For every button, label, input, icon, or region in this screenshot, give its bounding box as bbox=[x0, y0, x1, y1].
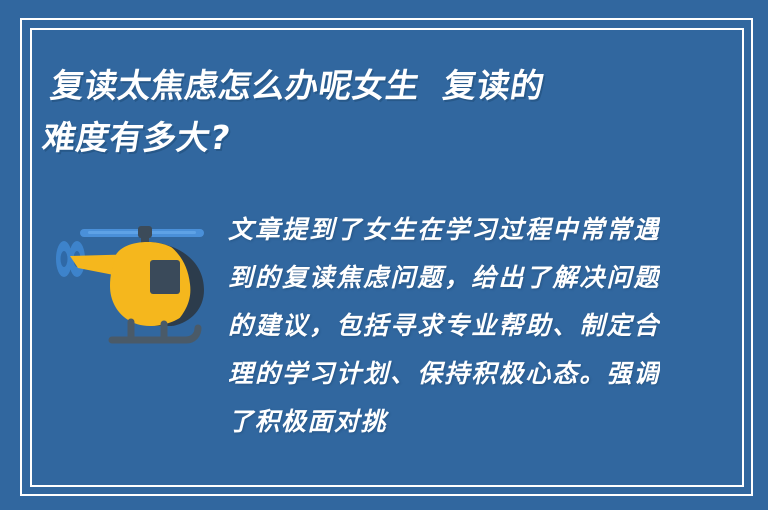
article-cover-card: 复读太焦虑怎么办呢女生 复读的 难度有多大? bbox=[0, 0, 768, 510]
page-title: 复读太焦虑怎么办呢女生 复读的 难度有多大? bbox=[39, 60, 655, 164]
helicopter-illustration bbox=[52, 212, 212, 347]
helicopter-graphic bbox=[52, 212, 212, 347]
cockpit-window bbox=[150, 260, 180, 294]
main-rotor-icon bbox=[80, 226, 204, 238]
article-summary-text: 文章提到了女生在学习过程中常常遇到的复读焦虑问题，给出了解决问题的建议，包括寻求… bbox=[228, 206, 660, 456]
